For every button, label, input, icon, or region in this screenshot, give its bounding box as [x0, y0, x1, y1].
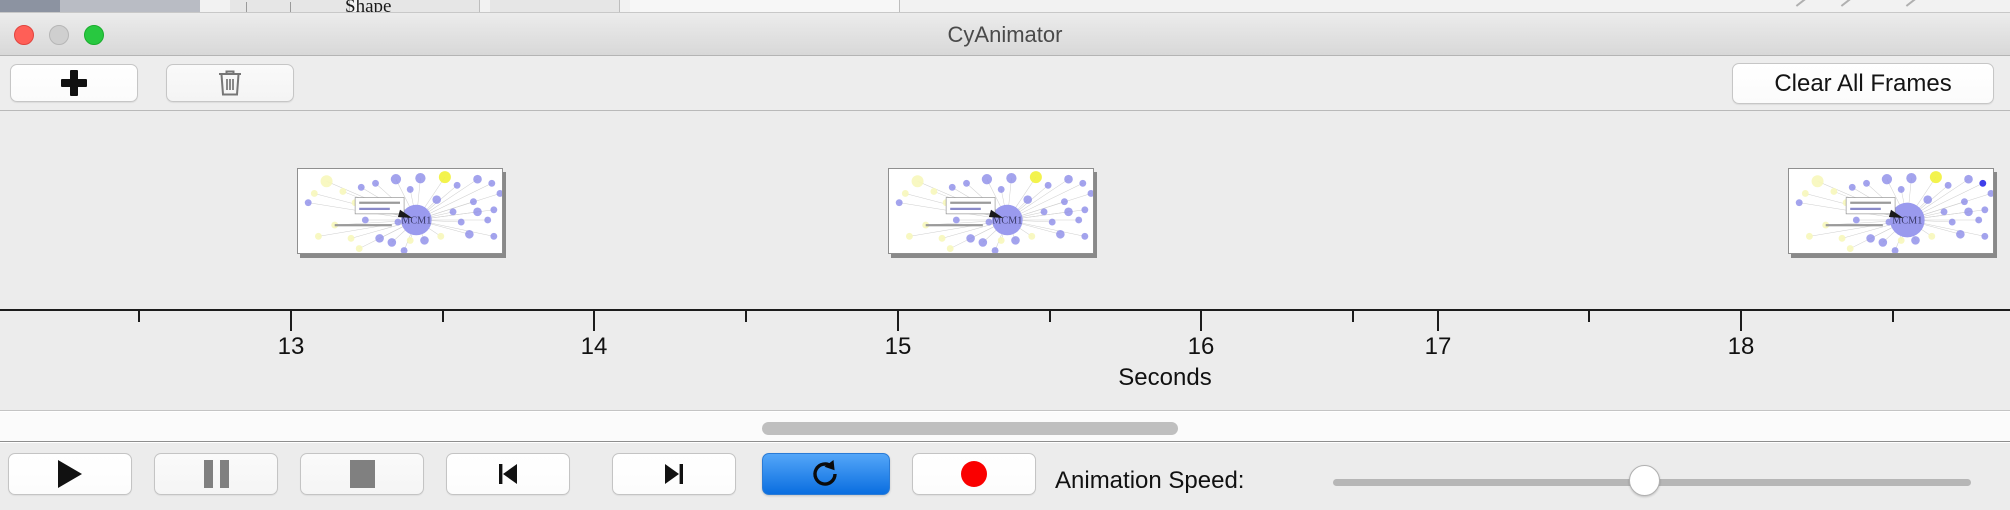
network-graph: MCM1 — [298, 169, 502, 254]
ruler-tick — [593, 311, 595, 331]
background-slash — [1906, 0, 1917, 7]
background-tick — [246, 2, 247, 13]
network-graph: MCM1 — [889, 169, 1093, 254]
background-toolbar-dark-2 — [60, 0, 200, 13]
window-controls — [14, 25, 104, 45]
stop-icon — [350, 460, 375, 488]
ruler-tick-label: 13 — [278, 333, 305, 361]
animation-speed-slider[interactable] — [1333, 473, 1971, 491]
frame-toolbar: Clear All Frames — [0, 56, 2010, 111]
ruler-tick — [138, 311, 140, 322]
ruler-tick — [1892, 311, 1894, 322]
pause-icon — [204, 460, 229, 488]
skip-forward-icon — [659, 459, 689, 489]
minimize-button[interactable] — [49, 25, 69, 45]
ruler-tick — [897, 311, 899, 331]
close-button[interactable] — [14, 25, 34, 45]
timeline-panel[interactable]: MCM1MCM1MCM1 Seconds 2131415161718 — [0, 111, 2010, 411]
background-toolbar-dark — [0, 0, 60, 13]
timeline-axis-label-text: Seconds — [1118, 364, 1211, 391]
ruler-tick — [290, 311, 292, 331]
timeline-axis-label: Seconds — [0, 364, 2010, 392]
clear-all-frames-label: Clear All Frames — [1774, 70, 1951, 98]
network-graph: MCM1 — [1789, 169, 1993, 254]
background-slash — [1841, 0, 1852, 7]
record-button[interactable] — [912, 453, 1036, 495]
ruler-tick-label: 14 — [581, 333, 608, 361]
play-icon — [58, 460, 82, 488]
ruler-tick — [1437, 311, 1439, 331]
ruler-tick — [1200, 311, 1202, 331]
timeline-ruler — [0, 309, 2010, 311]
timeline-scrollbar[interactable] — [0, 412, 2010, 442]
cyanimator-window: Shape CyAnimator Clear All Frames — [0, 0, 2010, 510]
ruler-tick-label: 17 — [1425, 333, 1452, 361]
play-button[interactable] — [8, 453, 132, 495]
frame-thumbnail-2[interactable]: MCM1 — [888, 168, 1094, 254]
frames-track[interactable]: MCM1MCM1MCM1 — [0, 111, 2010, 309]
ruler-tick — [442, 311, 444, 322]
prev-frame-button[interactable] — [446, 453, 570, 495]
ruler-tick — [1588, 311, 1590, 322]
ruler-tick — [745, 311, 747, 322]
animation-speed-label: Animation Speed: — [1055, 467, 1244, 495]
ruler-tick — [1740, 311, 1742, 331]
pause-button[interactable] — [154, 453, 278, 495]
add-frame-button[interactable] — [10, 64, 138, 102]
timeline-scrollbar-thumb[interactable] — [762, 422, 1178, 435]
background-app-word: Shape — [345, 0, 391, 13]
background-slash — [1796, 0, 1807, 7]
title-bar: CyAnimator — [0, 13, 2010, 56]
window-title: CyAnimator — [0, 13, 2010, 56]
background-tick — [290, 2, 291, 13]
clear-all-frames-button[interactable]: Clear All Frames — [1732, 63, 1994, 104]
frame-thumbnail-3[interactable]: MCM1 — [1788, 168, 1994, 254]
ruler-tick-label: 16 — [1188, 333, 1215, 361]
ruler-tick-label: 18 — [1728, 333, 1755, 361]
trash-icon — [217, 68, 243, 98]
record-icon — [961, 461, 987, 487]
loop-button[interactable] — [762, 453, 890, 495]
loop-icon — [809, 458, 843, 490]
background-app-strip: Shape — [0, 0, 2010, 13]
slider-thumb[interactable] — [1629, 465, 1660, 496]
skip-back-icon — [493, 459, 523, 489]
ruler-tick — [1049, 311, 1051, 322]
stop-button[interactable] — [300, 453, 424, 495]
next-frame-button[interactable] — [612, 453, 736, 495]
delete-frame-button[interactable] — [166, 64, 294, 102]
zoom-button[interactable] — [84, 25, 104, 45]
frame-thumbnail-1[interactable]: MCM1 — [297, 168, 503, 254]
background-cell — [630, 0, 900, 13]
ruler-tick — [1352, 311, 1354, 322]
background-cell — [490, 0, 620, 13]
playback-toolbar: Animation Speed: — [0, 443, 2010, 510]
ruler-tick-label: 15 — [885, 333, 912, 361]
plus-icon — [61, 70, 87, 96]
